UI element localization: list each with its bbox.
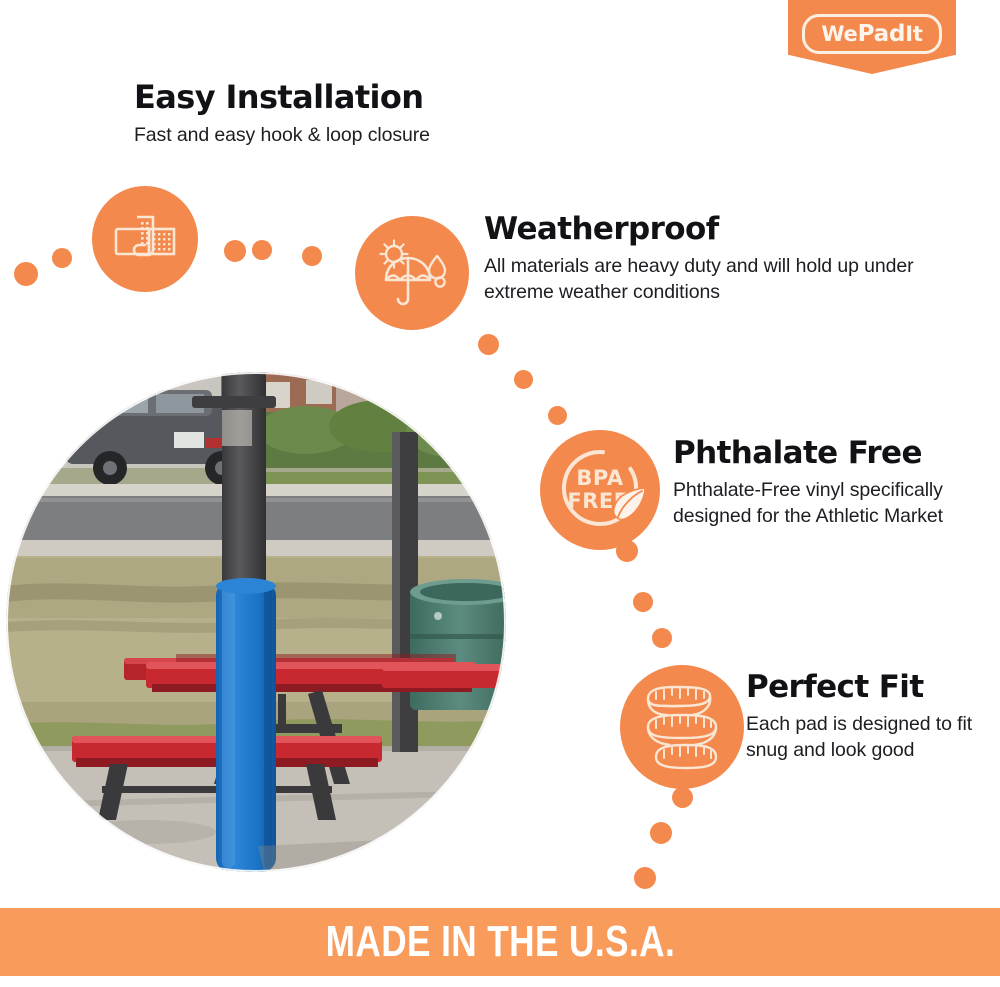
hook-and-loop-closure-icon	[113, 211, 177, 267]
icon-hook-and-loop-closure	[92, 186, 198, 292]
trail-dot	[652, 628, 672, 648]
feature-title: Perfect Fit	[746, 670, 986, 705]
trail-dot	[478, 334, 499, 355]
logo-word-it: It	[905, 22, 922, 46]
feature-title: Phthalate Free	[673, 436, 973, 471]
logo-word-we: We	[821, 22, 857, 46]
pole-pad-installation-photo	[6, 372, 506, 872]
feature-title: Easy Installation	[134, 80, 554, 116]
trail-dot	[302, 246, 322, 266]
trail-dot	[672, 787, 693, 808]
brand-logo[interactable]: WePadIt	[788, 0, 956, 74]
feature-title: Weatherproof	[484, 212, 914, 247]
icon-phthalate-free: BPA FREE	[540, 430, 660, 550]
trail-dot	[633, 592, 653, 612]
icon-weatherproof	[355, 216, 469, 330]
trail-dot	[14, 262, 38, 286]
trail-dot	[514, 370, 533, 389]
feature-block-perfect-fit: Perfect Fit Each pad is designed to fit …	[746, 670, 986, 764]
trail-dot	[224, 240, 246, 262]
feature-description: Fast and easy hook & loop closure	[134, 122, 554, 149]
feature-block-phthalate-free: Phthalate Free Phthalate-Free vinyl spec…	[673, 436, 973, 530]
feature-description: Each pad is designed to fit snug and loo…	[746, 711, 986, 764]
infographic-canvas: WePadIt	[0, 0, 1000, 987]
feature-block-easy-installation: Easy Installation Fast and easy hook & l…	[134, 80, 554, 148]
trail-dot	[650, 822, 672, 844]
made-in-usa-text: MADE IN THE U.S.A.	[325, 920, 674, 964]
trail-dot	[548, 406, 567, 425]
svg-text:BPA: BPA	[576, 466, 623, 490]
umbrella-sun-rain-icon	[374, 237, 450, 309]
trail-dot	[52, 248, 72, 268]
trail-dot	[634, 867, 656, 889]
bpa-free-leaf-icon: BPA FREE	[548, 438, 652, 542]
logo-outline-box: WePadIt	[802, 14, 942, 54]
feature-description: Phthalate-Free vinyl specifically design…	[673, 477, 973, 530]
feature-description: All materials are heavy duty and will ho…	[484, 253, 914, 306]
logo-wordmark: WePadIt	[821, 23, 922, 46]
measuring-tape-icon	[638, 681, 726, 773]
feature-block-weatherproof: Weatherproof All materials are heavy dut…	[484, 212, 914, 306]
trail-dot	[252, 240, 272, 260]
logo-word-pad: Pad	[858, 21, 906, 47]
made-in-usa-banner: MADE IN THE U.S.A.	[0, 908, 1000, 976]
icon-perfect-fit	[620, 665, 744, 789]
product-photo-pole-pad	[6, 372, 506, 872]
